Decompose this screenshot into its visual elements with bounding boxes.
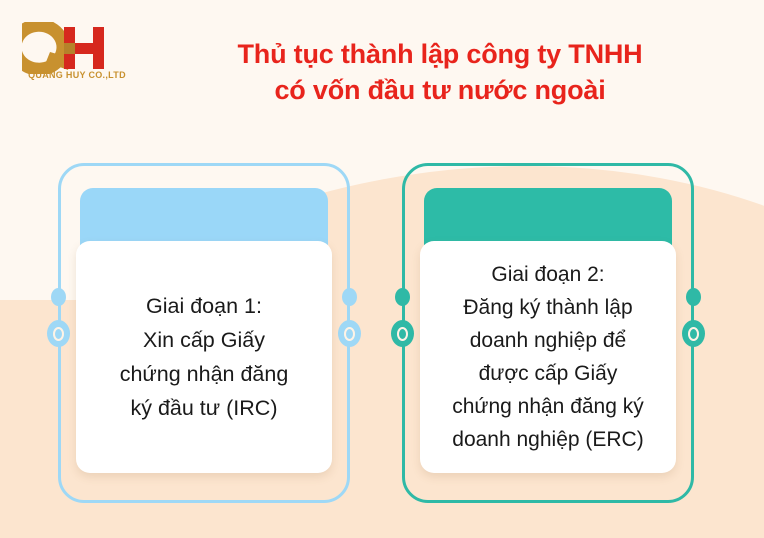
title-line-1: Thủ tục thành lập công ty TNHH: [150, 36, 730, 72]
stage-2-text: Giai đoạn 2: Đăng ký thành lập doanh ngh…: [452, 258, 644, 456]
stage-card-2[interactable]: Giai đoạn 2: Đăng ký thành lập doanh ngh…: [402, 163, 694, 503]
stage-1-node-dot-left: [51, 288, 66, 306]
stage-1-text: Giai đoạn 1: Xin cấp Giấy chứng nhận đăn…: [120, 289, 289, 425]
stage-2-node-ring-left: [391, 320, 414, 347]
stage-2-content-card: Giai đoạn 2: Đăng ký thành lập doanh ngh…: [420, 241, 676, 473]
stage-1-node-dot-right: [342, 288, 357, 306]
logo-caption: QUANG HUY CO.,LTD: [22, 70, 132, 80]
page-title: Thủ tục thành lập công ty TNHH có vốn đầ…: [150, 36, 730, 108]
stage-2-node-ring-right: [682, 320, 705, 347]
stage-1-node-ring-left: [47, 320, 70, 347]
stage-1-content-card: Giai đoạn 1: Xin cấp Giấy chứng nhận đăn…: [76, 241, 332, 473]
stage-2-node-dot-left: [395, 288, 410, 306]
qh-monogram-icon: [22, 22, 132, 74]
stage-1-node-ring-right: [338, 320, 361, 347]
header: QUANG HUY CO.,LTD Thủ tục thành lập công…: [0, 0, 764, 140]
title-line-2: có vốn đầu tư nước ngoài: [150, 72, 730, 108]
stage-card-1[interactable]: Giai đoạn 1: Xin cấp Giấy chứng nhận đăn…: [58, 163, 350, 503]
infographic-canvas: QUANG HUY CO.,LTD Thủ tục thành lập công…: [0, 0, 764, 538]
stage-2-node-dot-right: [686, 288, 701, 306]
company-logo: QUANG HUY CO.,LTD: [22, 22, 132, 90]
